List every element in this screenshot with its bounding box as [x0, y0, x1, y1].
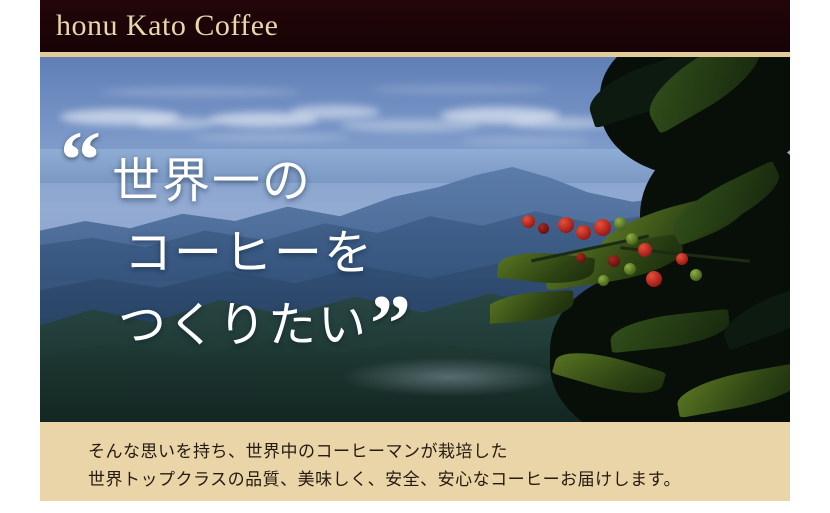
- content-column: honu Kato Coffee: [40, 0, 790, 501]
- coffee-cherry: [576, 225, 591, 240]
- quote-line: コーヒーを: [124, 229, 374, 277]
- coffee-cherry: [594, 219, 611, 236]
- coffee-cherry: [646, 271, 662, 287]
- quote-open-icon: “: [60, 119, 101, 201]
- coffee-cherry: [558, 217, 574, 233]
- hero-quote: “ 世界一の コーヒーを つくりたい ”: [40, 57, 520, 422]
- brand-title: honu Kato Coffee: [56, 6, 278, 46]
- caption-line-2: 世界トップクラスの品質、美味しく、安全、安心なコーヒーお届けします。: [88, 472, 681, 489]
- hero-banner-image: “ 世界一の コーヒーを つくりたい ”: [40, 57, 790, 422]
- quote-line: 世界一の: [112, 157, 312, 205]
- quote-line: つくりたい: [118, 301, 368, 349]
- coffee-cherry: [676, 253, 688, 265]
- coffee-plant: [490, 57, 790, 422]
- coffee-cherry-green: [598, 275, 609, 286]
- site-header: honu Kato Coffee: [40, 0, 790, 52]
- coffee-cherry-green: [624, 263, 636, 275]
- coffee-cherry: [522, 215, 535, 228]
- coffee-cherry-green: [614, 217, 627, 230]
- page-root: honu Kato Coffee: [0, 0, 830, 513]
- caption-block: そんな思いを持ち、世界中のコーヒーマンが栽培した 世界トップクラスの品質、美味し…: [40, 422, 790, 501]
- coffee-cherry-green: [626, 233, 638, 245]
- coffee-cherry: [538, 223, 549, 234]
- coffee-cherry: [638, 243, 652, 257]
- coffee-cherry-green: [690, 269, 702, 281]
- caption-line-1: そんな思いを持ち、世界中のコーヒーマンが栽培した: [88, 444, 508, 461]
- coffee-cherry: [576, 253, 586, 263]
- coffee-cherry: [608, 255, 620, 267]
- quote-close-icon: ”: [370, 283, 411, 365]
